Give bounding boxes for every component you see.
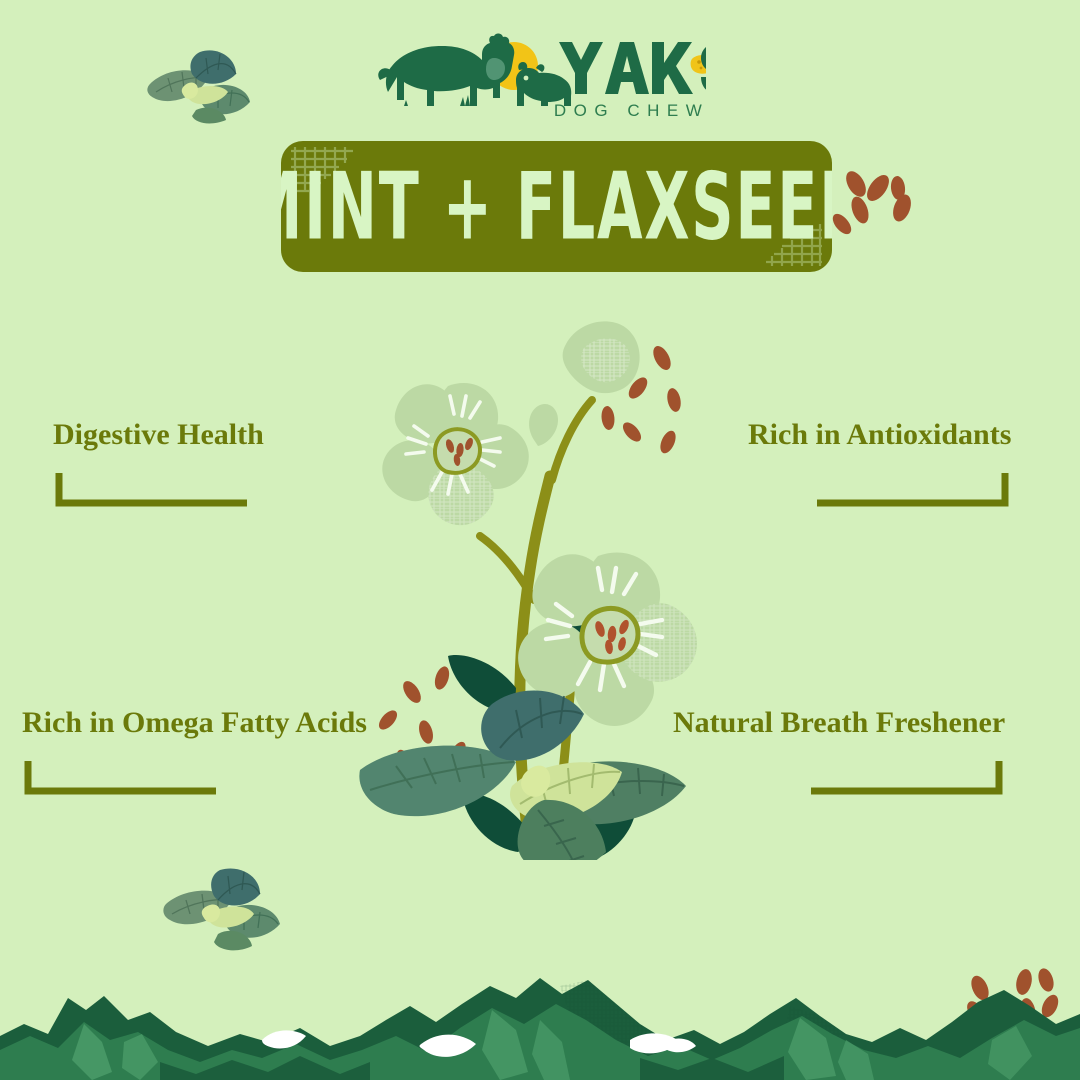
mountain-range-footer xyxy=(0,950,1080,1080)
dog-icon xyxy=(516,62,571,106)
benefit-natural-breath-freshener: Natural Breath Freshener xyxy=(673,706,1005,797)
benefit-rich-in-omega-fatty-acids: Rich in Omega Fatty Acids xyxy=(22,706,367,797)
yak9-dog-chews-logo: ™ DOG CHEWS xyxy=(376,28,706,124)
poster-canvas: ™ DOG CHEWS MINT + FLAXSEED xyxy=(0,0,1080,1080)
logo-tagline: DOG CHEWS xyxy=(554,101,706,120)
flax-bud-flower xyxy=(563,321,640,393)
mint-sprig-decoration xyxy=(144,36,254,126)
bracket-left-icon xyxy=(22,759,218,797)
title-banner: MINT + FLAXSEED xyxy=(281,141,832,272)
benefit-digestive-health: Digestive Health xyxy=(53,418,264,509)
flax-seed-cluster xyxy=(832,162,936,258)
benefit-rich-in-antioxidants: Rich in Antioxidants xyxy=(748,418,1011,509)
logo-wordmark xyxy=(559,42,693,94)
bracket-right-icon xyxy=(809,759,1005,797)
page-title: MINT + FLAXSEED xyxy=(281,160,832,253)
bracket-right-icon xyxy=(815,471,1011,509)
benefit-label: Rich in Antioxidants xyxy=(748,418,1011,451)
flax-flower xyxy=(382,383,529,525)
bracket-left-icon xyxy=(53,471,249,509)
flower-bud xyxy=(529,404,558,446)
mint-sprig-decoration xyxy=(160,856,286,956)
benefit-label: Digestive Health xyxy=(53,418,264,451)
benefit-label: Rich in Omega Fatty Acids xyxy=(22,706,367,739)
benefit-label: Natural Breath Freshener xyxy=(673,706,1005,739)
